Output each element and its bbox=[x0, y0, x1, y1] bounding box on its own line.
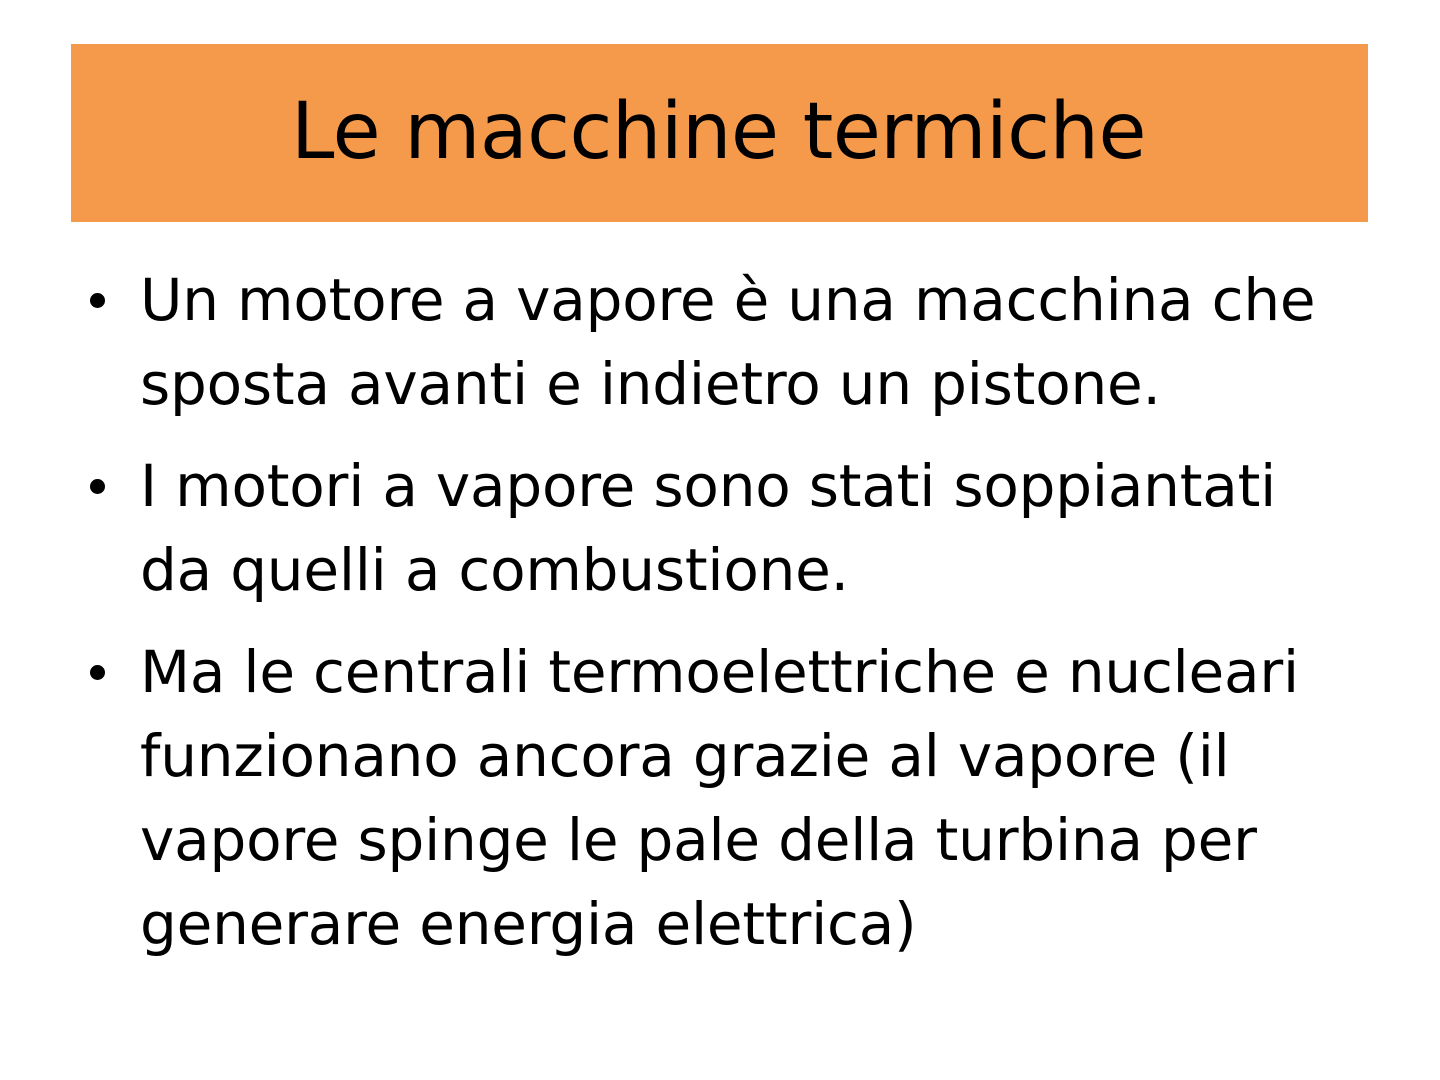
list-item-text: I motori a vapore sono stati soppiantati… bbox=[140, 444, 1338, 612]
round-bullet-icon bbox=[90, 258, 108, 342]
presentation-slide: Le macchine termiche Un motore a vapore … bbox=[0, 0, 1440, 1080]
page-title: Le macchine termiche bbox=[291, 92, 1146, 174]
round-bullet-icon bbox=[90, 630, 108, 714]
list-item-text: Un motore a vapore è una macchina che sp… bbox=[140, 258, 1338, 426]
round-bullet-icon bbox=[90, 444, 108, 528]
list-item: Un motore a vapore è una macchina che sp… bbox=[78, 258, 1338, 426]
slide-body: Un motore a vapore è una macchina che sp… bbox=[78, 258, 1338, 966]
bullet-list: Un motore a vapore è una macchina che sp… bbox=[78, 258, 1338, 966]
list-item: I motori a vapore sono stati soppiantati… bbox=[78, 444, 1338, 612]
slide-title-banner: Le macchine termiche bbox=[71, 44, 1368, 222]
list-item: Ma le centrali termoelettriche e nuclear… bbox=[78, 630, 1338, 966]
list-item-text: Ma le centrali termoelettriche e nuclear… bbox=[140, 630, 1338, 966]
